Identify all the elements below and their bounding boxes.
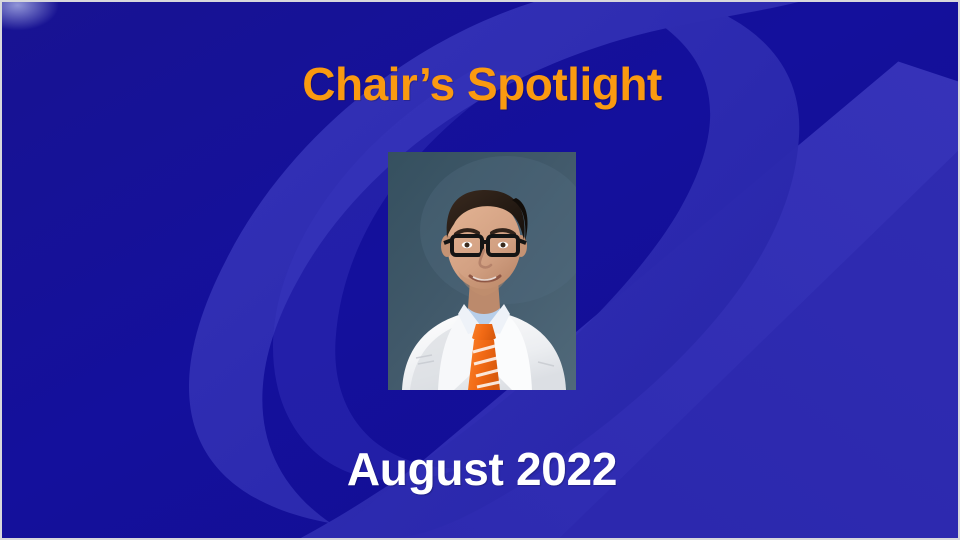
presentation-slide: Chair’s Spotlight bbox=[0, 0, 960, 540]
slide-title: Chair’s Spotlight bbox=[2, 60, 960, 108]
portrait-photo bbox=[388, 152, 576, 390]
slide-date: August 2022 bbox=[2, 445, 960, 493]
